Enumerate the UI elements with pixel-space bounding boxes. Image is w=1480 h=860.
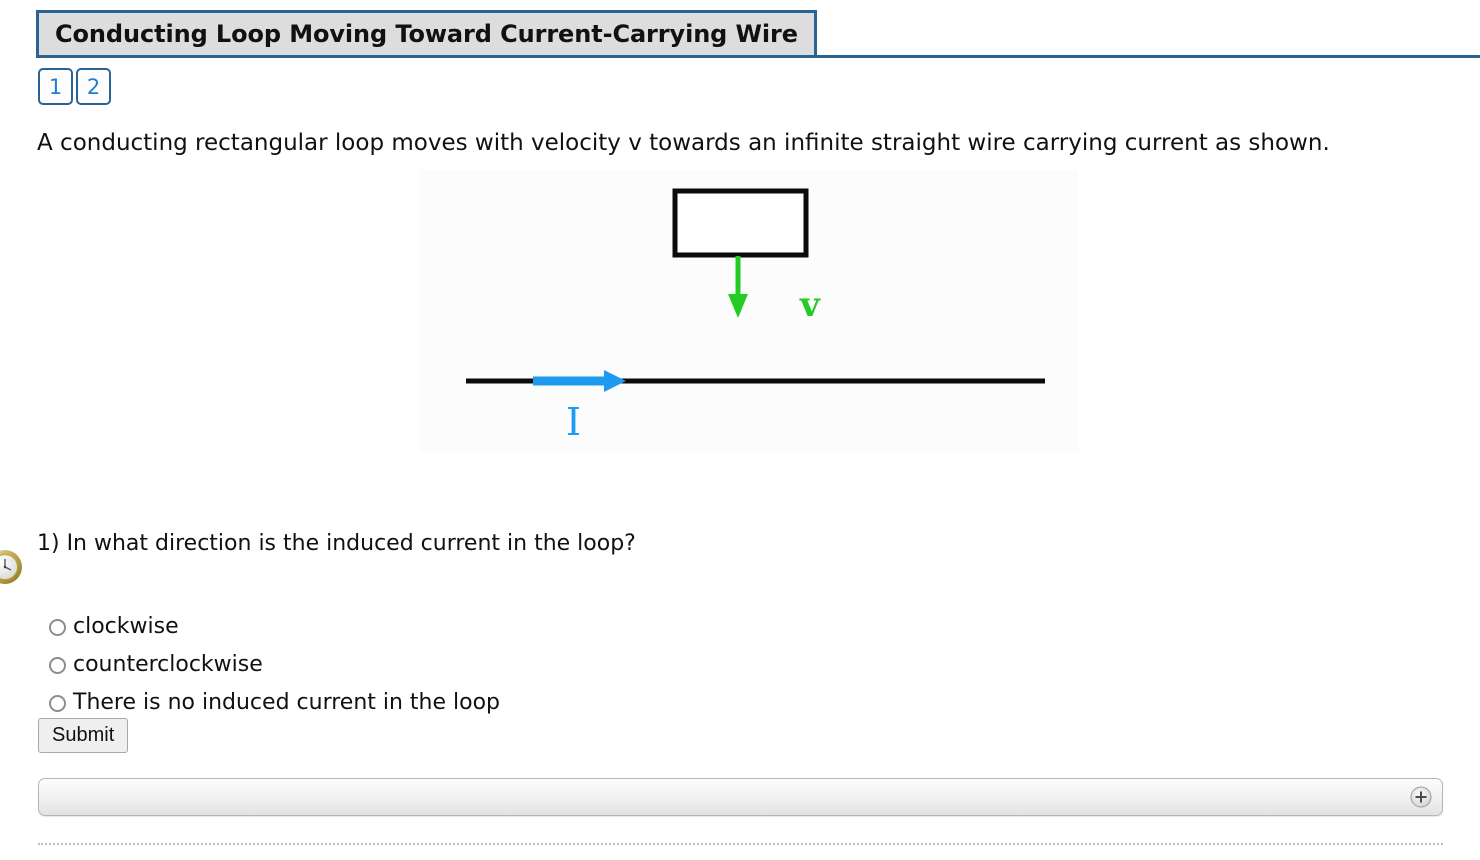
clock-icon: [0, 548, 26, 586]
answer-entry-bar[interactable]: [38, 778, 1443, 816]
page-title: Conducting Loop Moving Toward Current-Ca…: [55, 20, 798, 48]
conducting-loop-rect: [675, 191, 806, 255]
choice-label: There is no induced current in the loop: [73, 692, 500, 714]
choice-option-counterclockwise[interactable]: counterclockwise: [49, 646, 500, 684]
add-icon[interactable]: [1410, 786, 1432, 808]
tab-strip-rule: [36, 55, 1480, 58]
pager: 1 2: [38, 68, 114, 105]
question-text: 1) In what direction is the induced curr…: [37, 531, 636, 556]
radio-button-icon[interactable]: [49, 657, 66, 674]
choice-label: counterclockwise: [73, 654, 263, 676]
radio-button-icon[interactable]: [49, 619, 66, 636]
physics-diagram: v I: [420, 170, 1078, 452]
title-tab[interactable]: Conducting Loop Moving Toward Current-Ca…: [36, 10, 817, 55]
radio-button-icon[interactable]: [49, 695, 66, 712]
choice-option-no-current[interactable]: There is no induced current in the loop: [49, 684, 500, 722]
velocity-label: v: [799, 285, 821, 325]
current-label: I: [566, 400, 581, 444]
pager-button-1[interactable]: 1: [38, 68, 73, 105]
choice-list: clockwise counterclockwise There is no i…: [49, 608, 500, 722]
velocity-arrow: [728, 256, 748, 318]
pager-button-2[interactable]: 2: [76, 68, 111, 105]
title-tab-strip: Conducting Loop Moving Toward Current-Ca…: [0, 10, 1480, 58]
section-divider: [38, 843, 1443, 845]
choice-option-clockwise[interactable]: clockwise: [49, 608, 500, 646]
prompt-text: A conducting rectangular loop moves with…: [37, 130, 1330, 156]
submit-button[interactable]: Submit: [38, 718, 128, 753]
choice-label: clockwise: [73, 616, 179, 638]
current-arrow: [533, 370, 626, 392]
